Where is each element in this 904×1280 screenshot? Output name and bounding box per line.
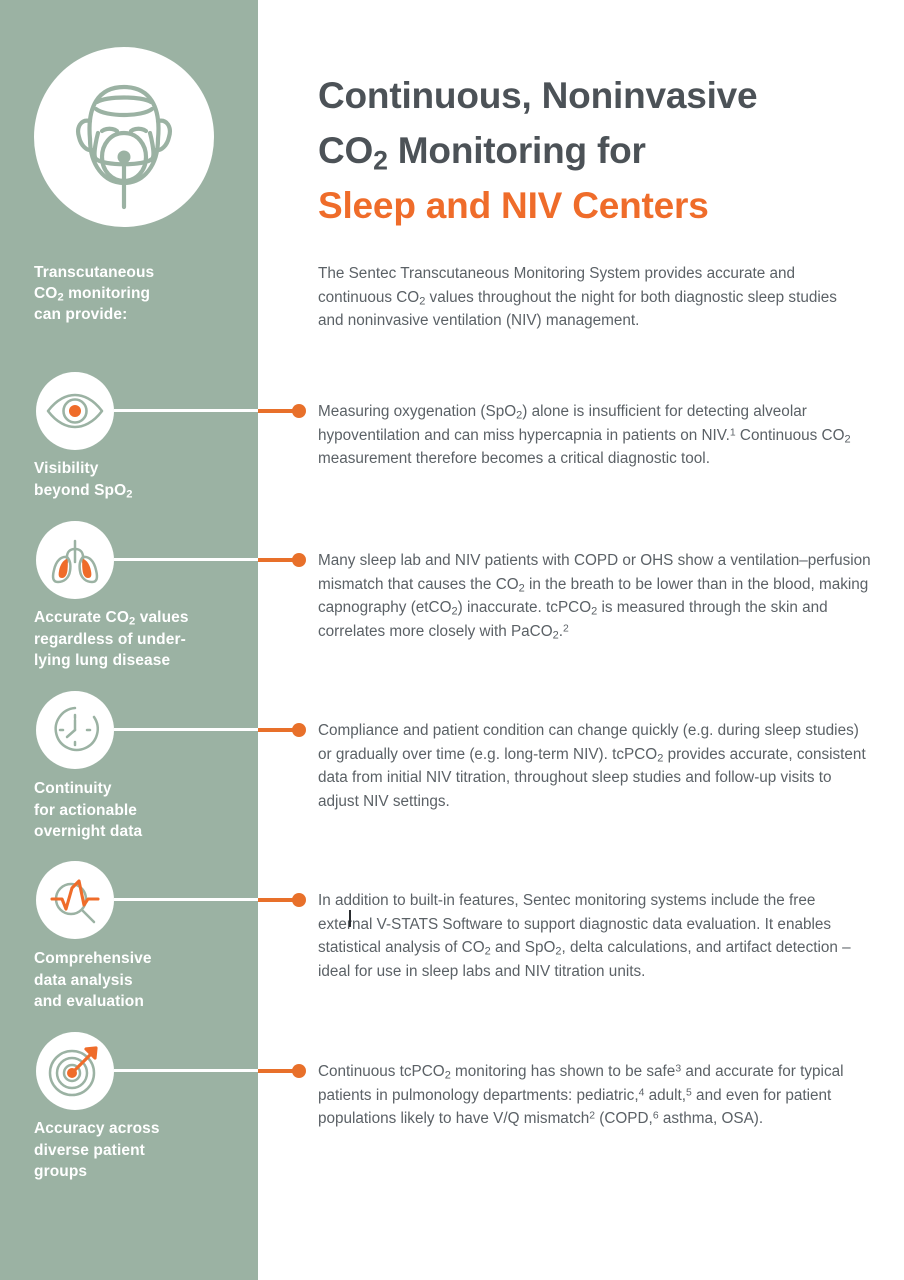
f5-p6: (COPD,: [595, 1110, 653, 1127]
feature-5-label-line3: groups: [34, 1163, 87, 1180]
f5-p7: asthma, OSA).: [659, 1110, 764, 1127]
sidebar-item-label-comprehensive: Comprehensive data analysis and evaluati…: [34, 948, 244, 1013]
feature-3-body: Compliance and patient condition can cha…: [318, 719, 873, 813]
feature-2-body: Many sleep lab and NIV patients with COP…: [318, 549, 873, 643]
connector-dot-3: [292, 723, 306, 737]
target-arrow-icon: [36, 1032, 114, 1110]
clock-moon-icon: [36, 691, 114, 769]
main-content: Continuous, Noninvasive CO2 Monitoring f…: [318, 0, 904, 1280]
sidebar-intro-label: Transcutaneous CO2 monitoring can provid…: [34, 262, 234, 325]
f5-p4: adult,: [644, 1087, 686, 1104]
title-line1: Continuous, Noninvasive: [318, 75, 757, 116]
feature-5-body: Continuous tcPCO2 monitoring has shown t…: [318, 1060, 873, 1131]
sidebar-intro-line1: Transcutaneous: [34, 264, 154, 281]
title-line2-post: Monitoring for: [388, 130, 646, 171]
feature-3-label-line1: Continuity: [34, 780, 112, 797]
sidebar-intro-line2-pre: CO: [34, 285, 57, 302]
feature-2-label-line3: lying lung disease: [34, 652, 170, 669]
feature-4-label-line2: data analysis: [34, 972, 133, 989]
eye-svg: [36, 372, 114, 450]
feature-5-label-line1: Accuracy across: [34, 1120, 160, 1137]
feature-1-body: Measuring oxygenation (SpO2) alone is in…: [318, 400, 873, 471]
head-with-ventilation-mask-icon: [34, 47, 214, 227]
feature-1-label-line1: Visibility: [34, 460, 98, 477]
f1-p1: Measuring oxygenation (SpO: [318, 403, 516, 420]
eye-icon: [36, 372, 114, 450]
connector-line-white-3: [114, 728, 258, 731]
clock-moon-svg: [36, 691, 114, 769]
connector-line-white-2: [114, 558, 258, 561]
title-line2-sub: 2: [373, 145, 388, 175]
page-title: Continuous, Noninvasive CO2 Monitoring f…: [318, 68, 878, 233]
feature-5-label-line2: diverse patient: [34, 1142, 145, 1159]
connector-line-white-1: [114, 409, 258, 412]
feature-2-label-line2: regardless of under-: [34, 631, 186, 648]
text-caret: [349, 910, 351, 927]
f5-p2: monitoring has shown to be safe: [451, 1063, 676, 1080]
magnifier-waveform-icon: [36, 861, 114, 939]
sidebar-item-label-visibility: Visibility beyond SpO2: [34, 458, 244, 501]
feature-2-label-line1-pre: Accurate CO: [34, 609, 129, 626]
f1-p4: measurement therefore becomes a critical…: [318, 450, 710, 467]
f2-sup1: 2: [563, 623, 569, 634]
magnifier-waveform-svg: [36, 861, 114, 939]
lungs-icon: [36, 521, 114, 599]
f1-s2: 2: [844, 433, 850, 445]
connector-dot-4: [292, 893, 306, 907]
sidebar-item-label-accuracy: Accuracy across diverse patient groups: [34, 1118, 244, 1183]
connector-line-white-4: [114, 898, 258, 901]
sidebar-intro-line2-post: monitoring: [64, 285, 150, 302]
title-line2-pre: CO: [318, 130, 373, 171]
feature-4-label-line3: and evaluation: [34, 993, 144, 1010]
feature-3-label-line3: overnight data: [34, 823, 142, 840]
feature-4-label-line1: Comprehensive: [34, 950, 152, 967]
title-line3-accent: Sleep and NIV Centers: [318, 185, 709, 226]
connector-dot-5: [292, 1064, 306, 1078]
head-mask-svg: [34, 47, 214, 227]
f5-p1: Continuous tcPCO: [318, 1063, 445, 1080]
feature-2-label-line1-post: values: [135, 609, 188, 626]
feature-1-label-line2-pre: beyond SpO: [34, 482, 126, 499]
f4-p2: and SpO: [491, 939, 556, 956]
connector-dot-1: [292, 404, 306, 418]
sidebar-item-label-accurate: Accurate CO2 values regardless of under-…: [34, 607, 244, 672]
connector-dot-2: [292, 553, 306, 567]
sidebar-intro-line3: can provide:: [34, 306, 127, 323]
infographic-page: Transcutaneous CO2 monitoring can provid…: [0, 0, 904, 1280]
feature-4-body: In addition to built-in features, Sentec…: [318, 889, 873, 983]
sidebar-item-label-continuity: Continuity for actionable overnight data: [34, 778, 244, 843]
feature-3-label-line2: for actionable: [34, 802, 137, 819]
target-arrow-svg: [36, 1032, 114, 1110]
intro-paragraph: The Sentec Transcutaneous Monitoring Sys…: [318, 262, 838, 333]
f2-p3: ) inaccurate. tcPCO: [458, 599, 591, 616]
f1-p3: Continuous CO: [736, 427, 845, 444]
feature-1-label-line2-sub: 2: [126, 488, 132, 500]
sidebar: Transcutaneous CO2 monitoring can provid…: [0, 0, 258, 1280]
connector-line-white-5: [114, 1069, 258, 1072]
lungs-svg: [36, 521, 114, 599]
